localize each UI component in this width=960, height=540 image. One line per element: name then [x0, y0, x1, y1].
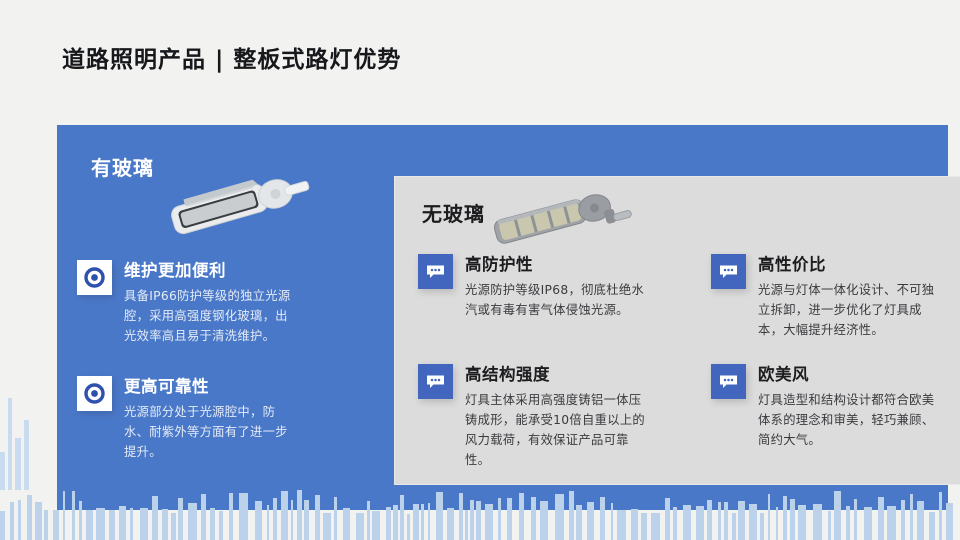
without-glass-label: 无玻璃 — [422, 198, 485, 227]
decoration-bar — [343, 508, 350, 540]
decoration-bar — [673, 507, 677, 540]
feature-title: 高结构强度 — [465, 361, 650, 385]
decoration-bar — [718, 502, 721, 540]
decoration-bar — [291, 500, 293, 540]
decoration-bar — [436, 492, 443, 540]
decoration-bar — [8, 398, 12, 490]
decoration-bar — [304, 500, 309, 540]
feature-body: 光源部分处于光源腔中，防水、耐紫外等方面有了进一步提升。 — [124, 402, 299, 462]
decoration-bars-bottom — [0, 490, 960, 540]
decoration-bar — [846, 506, 850, 540]
decoration-bar — [917, 501, 924, 540]
feature-title: 高防护性 — [465, 251, 650, 275]
decoration-bar — [834, 491, 841, 540]
decoration-bar — [459, 493, 464, 540]
decoration-bar — [188, 503, 197, 540]
decoration-bar — [498, 498, 501, 540]
decoration-bar — [790, 499, 795, 540]
street-light-without-glass-image — [486, 176, 636, 261]
decoration-bar — [878, 497, 884, 540]
decoration-bar — [696, 506, 704, 540]
decoration-bar — [152, 496, 158, 540]
decoration-bar — [178, 498, 183, 540]
decoration-bar — [749, 504, 757, 540]
speech-bubble-icon — [711, 364, 746, 399]
feature-title: 更高可靠性 — [124, 373, 299, 397]
decoration-bar — [421, 504, 424, 540]
decoration-bar — [738, 501, 745, 540]
ring-icon — [77, 260, 112, 295]
street-light-with-glass-image — [157, 160, 317, 250]
decoration-bar — [140, 508, 148, 540]
decoration-bar — [540, 501, 548, 540]
decoration-bars-left — [0, 395, 57, 490]
decoration-bar — [864, 507, 872, 540]
decoration-bar — [281, 491, 288, 540]
decoration-bar — [665, 498, 670, 540]
feature-title: 高性价比 — [758, 251, 943, 275]
decoration-bar — [229, 493, 233, 540]
decoration-bar — [929, 512, 935, 540]
decoration-bar — [323, 513, 331, 540]
decoration-bar — [854, 499, 857, 540]
feature-body: 光源防护等级IP68，彻底杜绝水汽或有毒有害气体侵蚀光源。 — [465, 280, 650, 320]
decoration-bar — [569, 491, 574, 540]
decoration-bar — [724, 502, 728, 540]
decoration-bar — [407, 514, 410, 540]
speech-bubble-icon — [418, 364, 453, 399]
decoration-bar — [119, 506, 126, 540]
decoration-bar — [413, 504, 419, 540]
feature-item: 欧美风 灯具造型和结构设计都符合欧美体系的理念和审美，轻巧兼顾、简约大气。 — [711, 361, 943, 450]
decoration-bar — [255, 501, 262, 540]
feature-item: 高性价比 光源与灯体一体化设计、不可独立拆卸，进一步优化了灯具成本，大幅提升经济… — [711, 251, 943, 340]
decoration-bar — [476, 501, 481, 540]
decoration-bar — [798, 505, 806, 540]
decoration-bar — [24, 420, 29, 490]
decoration-bar — [386, 507, 391, 540]
decoration-bar — [732, 513, 736, 540]
decoration-bar — [683, 505, 691, 540]
decoration-bar — [531, 497, 536, 540]
decoration-bar — [79, 501, 82, 540]
decoration-bar — [273, 498, 277, 540]
decoration-bar — [393, 505, 398, 540]
decoration-bar — [0, 452, 5, 490]
decoration-bar — [813, 504, 822, 540]
decoration-bar — [776, 507, 778, 540]
feature-body: 灯具造型和结构设计都符合欧美体系的理念和审美，轻巧兼顾、简约大气。 — [758, 390, 943, 450]
decoration-bar — [171, 513, 176, 540]
decoration-bar — [470, 500, 474, 540]
decoration-bar — [96, 508, 105, 540]
decoration-bar — [15, 438, 21, 490]
decoration-bar — [219, 511, 223, 540]
decoration-bar — [44, 510, 48, 540]
decoration-bar — [641, 513, 647, 540]
decoration-bar — [53, 510, 59, 540]
decoration-bar — [887, 506, 896, 540]
decoration-bar — [18, 500, 21, 540]
decoration-bar — [372, 511, 380, 540]
feature-item: 更高可靠性 光源部分处于光源腔中，防水、耐紫外等方面有了进一步提升。 — [77, 373, 299, 462]
decoration-bar — [631, 509, 638, 540]
decoration-bar — [297, 490, 302, 540]
speech-bubble-icon — [418, 254, 453, 289]
decoration-bar — [86, 510, 93, 540]
decoration-bar — [0, 511, 5, 540]
feature-title: 维护更加便利 — [124, 257, 299, 281]
decoration-bar — [27, 495, 32, 540]
feature-title: 欧美风 — [758, 361, 943, 385]
decoration-bar — [35, 502, 42, 540]
page-title: 道路照明产品 | 整板式路灯优势 — [62, 40, 401, 74]
decoration-bar — [901, 500, 905, 540]
decoration-bar — [400, 495, 404, 540]
decoration-bar — [10, 502, 14, 540]
comparison-panel: 有玻璃 — [57, 125, 948, 510]
decoration-bar — [946, 503, 953, 540]
decoration-bar — [109, 510, 115, 540]
feature-item: 高防护性 光源防护等级IP68，彻底杜绝水汽或有毒有害气体侵蚀光源。 — [418, 251, 650, 320]
decoration-bar — [315, 495, 320, 540]
decoration-bar — [507, 498, 512, 540]
decoration-bar — [485, 504, 493, 540]
decoration-bar — [334, 497, 337, 540]
feature-body: 具备IP66防护等级的独立光源腔，采用高强度钢化玻璃，出光效率高且易于清洗维护。 — [124, 286, 299, 346]
decoration-bar — [201, 494, 206, 540]
decoration-bar — [428, 503, 430, 540]
with-glass-column: 有玻璃 — [57, 125, 394, 510]
decoration-bar — [600, 497, 605, 540]
decoration-bar — [939, 492, 942, 540]
feature-item: 维护更加便利 具备IP66防护等级的独立光源腔，采用高强度钢化玻璃，出光效率高且… — [77, 257, 299, 346]
decoration-bar — [519, 493, 524, 540]
decoration-bar — [611, 503, 613, 540]
without-glass-column: 无玻璃 — [394, 176, 960, 485]
decoration-bar — [130, 508, 133, 540]
decoration-bar — [651, 513, 660, 540]
decoration-bar — [783, 496, 787, 540]
decoration-bar — [367, 501, 370, 540]
decoration-bar — [267, 505, 269, 540]
decoration-bar — [356, 513, 364, 540]
decoration-bar — [576, 505, 582, 540]
decoration-bar — [760, 513, 764, 540]
decoration-bar — [768, 494, 771, 540]
ring-icon — [77, 376, 112, 411]
decoration-bar — [828, 511, 831, 540]
decoration-bar — [465, 510, 468, 540]
speech-bubble-icon — [711, 254, 746, 289]
decoration-bar — [587, 502, 594, 540]
decoration-bar — [555, 494, 564, 540]
decoration-bar — [72, 491, 75, 540]
decoration-bar — [910, 494, 913, 540]
decoration-bar — [210, 508, 215, 540]
decoration-bar — [162, 509, 169, 540]
decoration-bar — [707, 500, 712, 540]
decoration-bar — [239, 493, 248, 540]
with-glass-label: 有玻璃 — [91, 152, 154, 181]
feature-body: 灯具主体采用高强度铸铝一体压铸成形，能承受10倍自重以上的风力载荷，有效保证产品… — [465, 390, 650, 470]
decoration-bar — [63, 491, 65, 540]
feature-item: 高结构强度 灯具主体采用高强度铸铝一体压铸成形，能承受10倍自重以上的风力载荷，… — [418, 361, 650, 470]
decoration-bar — [447, 508, 454, 540]
decoration-bar — [617, 510, 626, 540]
feature-body: 光源与灯体一体化设计、不可独立拆卸，进一步优化了灯具成本，大幅提升经济性。 — [758, 280, 943, 340]
